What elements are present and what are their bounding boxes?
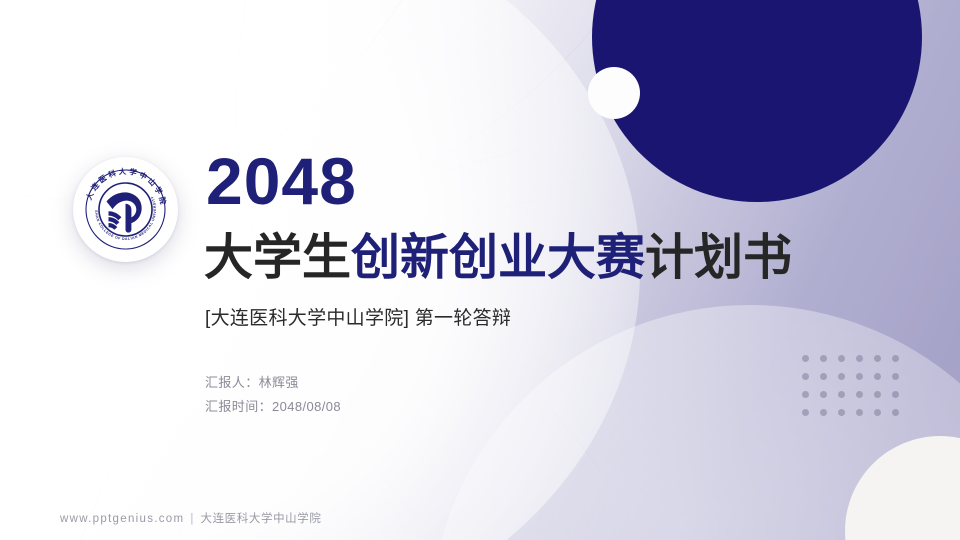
background-wash-lower — [430, 305, 960, 540]
year-heading: 2048 — [206, 148, 357, 214]
navy-circle-decoration — [592, 0, 922, 202]
presenter-line: 汇报人：林辉强 — [205, 371, 341, 395]
grid-dot — [802, 373, 809, 380]
large-white-circle-decoration — [845, 436, 960, 540]
grid-dot — [874, 409, 881, 416]
grid-dot — [856, 391, 863, 398]
university-logo-badge: 大连医科大学中山学院 ZHONGSHAN COLLEGE OF DALIAN M… — [73, 157, 178, 262]
title-segment-plain-1: 大学生 — [204, 231, 351, 285]
grid-dot — [856, 409, 863, 416]
date-line: 汇报时间：2048/08/08 — [205, 395, 341, 419]
footer-website: www.pptgenius.com — [60, 513, 184, 525]
page-subtitle: [大连医科大学中山学院] 第一轮答辩 — [205, 303, 511, 330]
grid-dot — [892, 355, 899, 362]
presentation-meta: 汇报人：林辉强 汇报时间：2048/08/08 — [205, 371, 341, 419]
presentation-slide: 大连医科大学中山学院 ZHONGSHAN COLLEGE OF DALIAN M… — [0, 0, 960, 540]
grid-dot — [820, 409, 827, 416]
grid-dot — [838, 391, 845, 398]
grid-dot — [802, 409, 809, 416]
grid-dot — [838, 409, 845, 416]
grid-dot — [874, 373, 881, 380]
footer-organization: 大连医科大学中山学院 — [200, 513, 321, 525]
grid-dot — [892, 373, 899, 380]
grid-dot — [838, 355, 845, 362]
page-title: 大学生创新创业大赛计划书 — [204, 232, 792, 285]
dot-grid-decoration — [802, 355, 910, 427]
footer-separator: | — [190, 513, 194, 525]
grid-dot — [802, 391, 809, 398]
small-white-circle-decoration — [588, 67, 640, 119]
title-segment-plain-2: 计划书 — [645, 231, 792, 285]
grid-dot — [802, 355, 809, 362]
slide-footer: www.pptgenius.com|大连医科大学中山学院 — [60, 510, 321, 526]
grid-dot — [874, 355, 881, 362]
title-segment-accent: 创新创业大赛 — [351, 231, 645, 285]
grid-dot — [892, 391, 899, 398]
grid-dot — [856, 355, 863, 362]
grid-dot — [838, 373, 845, 380]
grid-dot — [820, 391, 827, 398]
grid-dot — [856, 373, 863, 380]
grid-dot — [892, 409, 899, 416]
grid-dot — [874, 391, 881, 398]
grid-dot — [820, 355, 827, 362]
university-emblem-icon: 大连医科大学中山学院 ZHONGSHAN COLLEGE OF DALIAN M… — [73, 157, 178, 262]
grid-dot — [820, 373, 827, 380]
